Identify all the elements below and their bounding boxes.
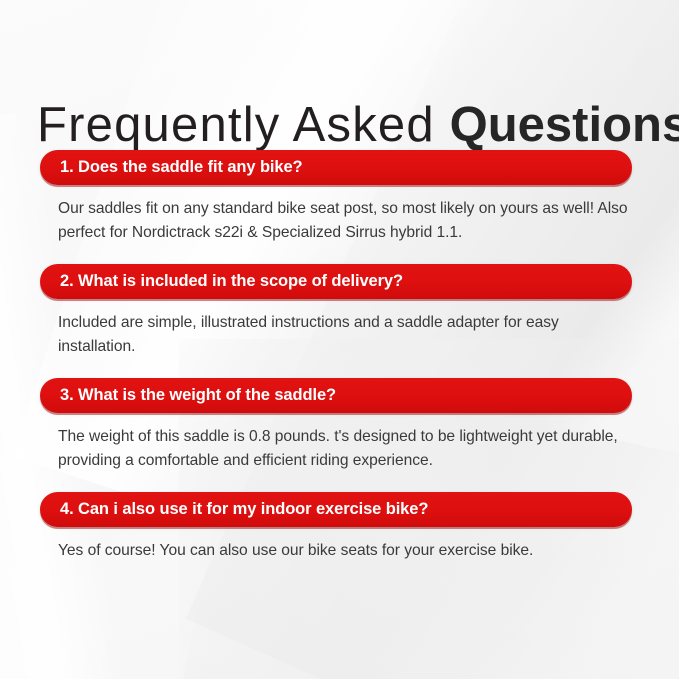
- faq-list: 1. Does the saddle fit any bike? Our sad…: [0, 150, 679, 582]
- page-title: Frequently Asked Questions: [37, 96, 679, 154]
- page-title-light-part: Frequently Asked: [37, 98, 450, 152]
- faq-answer-text: Included are simple, illustrated instruc…: [58, 311, 636, 359]
- page-title-bold-part: Questions: [450, 98, 679, 152]
- faq-question-bar[interactable]: 2. What is included in the scope of deli…: [40, 264, 632, 299]
- faq-question-bar[interactable]: 4. Can i also use it for my indoor exerc…: [40, 492, 632, 527]
- faq-item: 4. Can i also use it for my indoor exerc…: [0, 492, 679, 563]
- faq-question-bar[interactable]: 3. What is the weight of the saddle?: [40, 378, 632, 413]
- faq-question-label: 3. What is the weight of the saddle?: [60, 387, 336, 404]
- faq-question-label: 2. What is included in the scope of deli…: [60, 273, 403, 290]
- faq-question-bar[interactable]: 1. Does the saddle fit any bike?: [40, 150, 632, 185]
- faq-item: 1. Does the saddle fit any bike? Our sad…: [0, 150, 679, 245]
- faq-answer-text: Our saddles fit on any standard bike sea…: [58, 197, 636, 245]
- faq-page: Frequently Asked Questions 1. Does the s…: [0, 0, 679, 679]
- faq-answer-text: Yes of course! You can also use our bike…: [58, 539, 636, 563]
- faq-item: 3. What is the weight of the saddle? The…: [0, 378, 679, 473]
- faq-question-label: 1. Does the saddle fit any bike?: [60, 159, 303, 176]
- faq-answer-text: The weight of this saddle is 0.8 pounds.…: [58, 425, 636, 473]
- faq-item: 2. What is included in the scope of deli…: [0, 264, 679, 359]
- faq-question-label: 4. Can i also use it for my indoor exerc…: [60, 501, 428, 518]
